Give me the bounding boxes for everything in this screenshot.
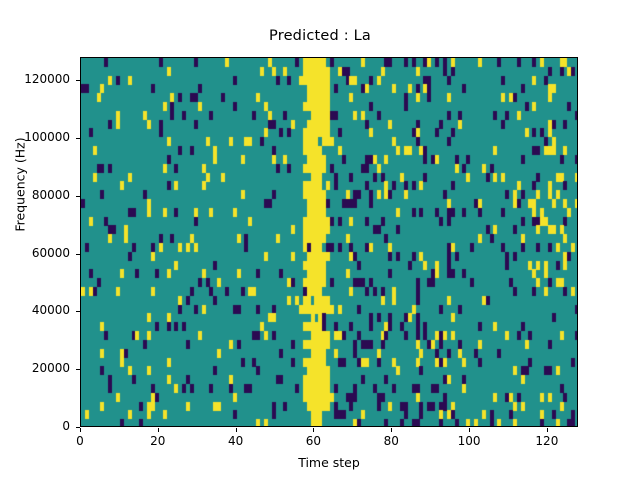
y-axis-label: Frequency (Hz) <box>13 85 28 285</box>
y-tick-mark <box>76 254 80 255</box>
x-tick-label: 80 <box>361 434 421 448</box>
x-tick-mark <box>158 428 159 432</box>
x-tick-mark <box>313 428 314 432</box>
x-tick-label: 60 <box>283 434 343 448</box>
y-tick-mark <box>76 196 80 197</box>
x-tick-mark <box>80 428 81 432</box>
chart-title: Predicted : La <box>0 28 640 44</box>
x-tick-mark <box>236 428 237 432</box>
x-tick-mark <box>469 428 470 432</box>
y-tick-mark <box>76 311 80 312</box>
y-tick-mark <box>76 80 80 81</box>
heatmap-axes <box>80 57 578 427</box>
y-tick-label: 60000 <box>0 246 70 260</box>
y-tick-label: 0 <box>0 419 70 433</box>
x-tick-label: 20 <box>128 434 188 448</box>
y-tick-label: 100000 <box>0 130 70 144</box>
heatmap-image <box>81 58 578 427</box>
x-tick-label: 120 <box>517 434 577 448</box>
x-tick-label: 0 <box>50 434 110 448</box>
x-axis-label: Time step <box>80 455 578 470</box>
y-tick-mark <box>76 138 80 139</box>
y-tick-label: 80000 <box>0 188 70 202</box>
x-tick-mark <box>547 428 548 432</box>
y-tick-mark <box>76 427 80 428</box>
x-tick-label: 40 <box>206 434 266 448</box>
y-tick-label: 20000 <box>0 361 70 375</box>
y-tick-mark <box>76 369 80 370</box>
y-tick-label: 40000 <box>0 303 70 317</box>
x-tick-label: 100 <box>439 434 499 448</box>
matplotlib-figure: Predicted : La 020406080100120 020000400… <box>0 0 640 480</box>
x-tick-mark <box>391 428 392 432</box>
y-tick-label: 120000 <box>0 72 70 86</box>
